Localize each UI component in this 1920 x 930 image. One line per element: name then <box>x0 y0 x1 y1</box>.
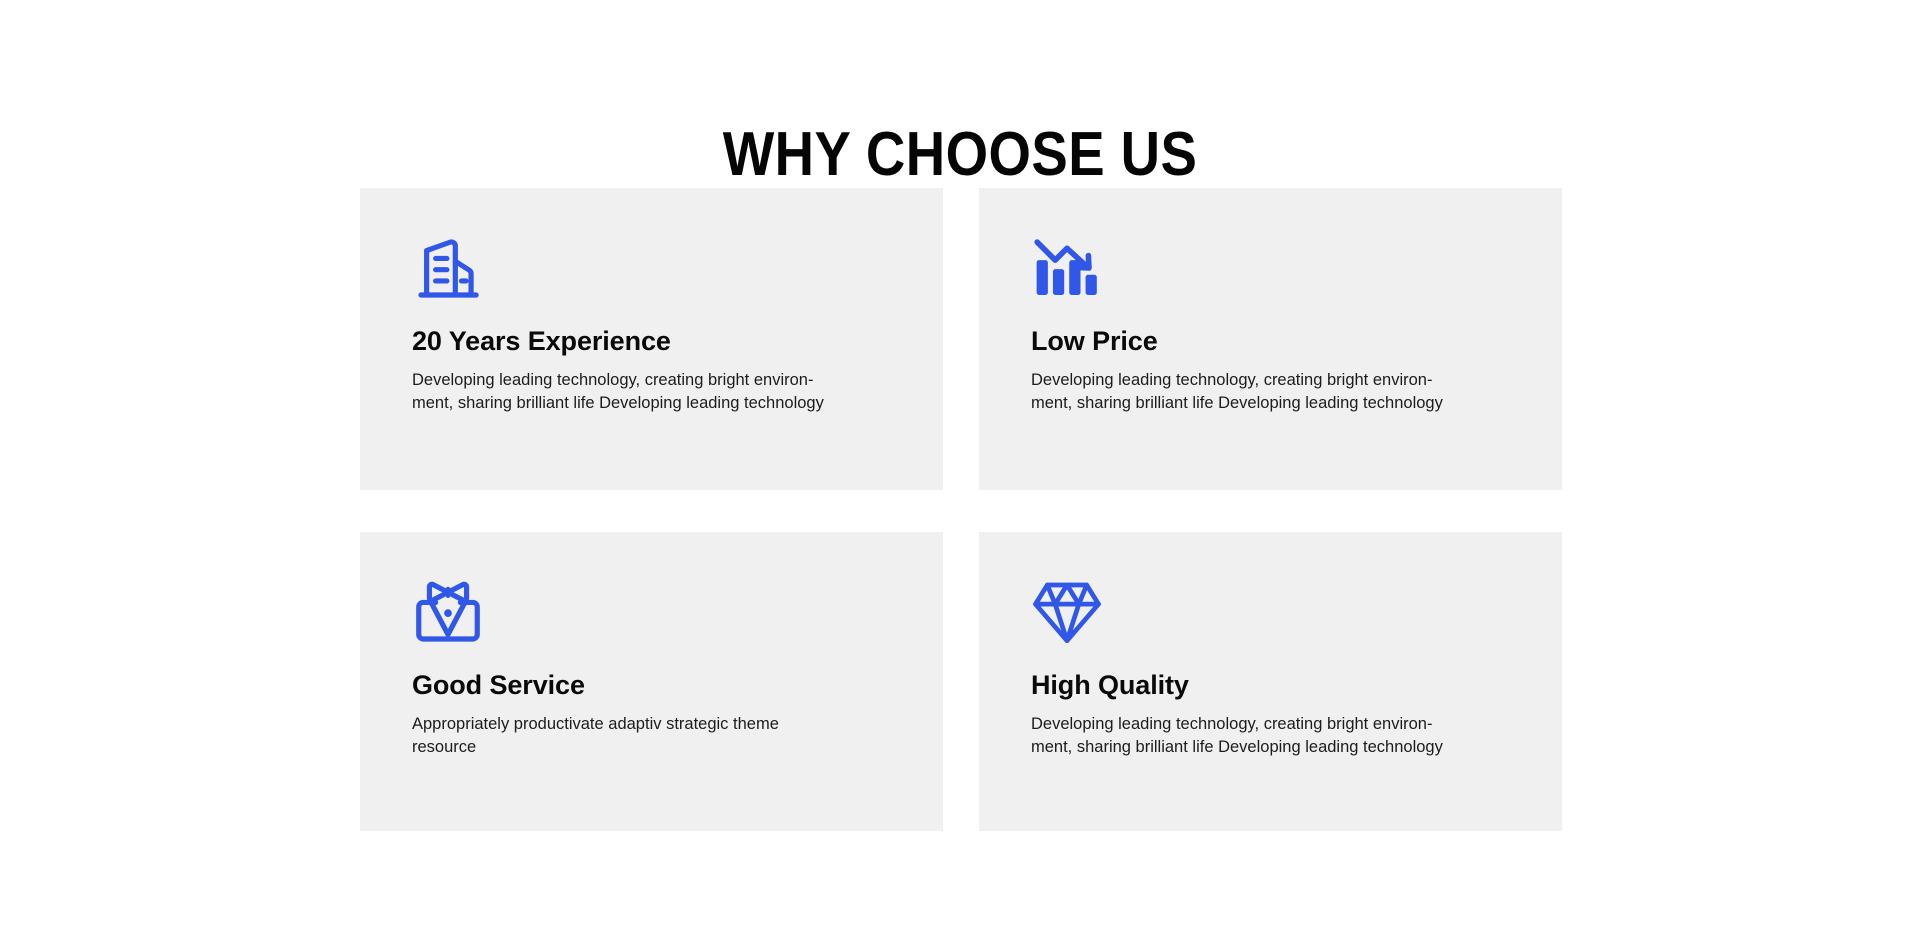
feature-card-experience[interactable]: 20 Years Experience Developing leading t… <box>360 188 943 490</box>
feature-cards-grid: 20 Years Experience Developing leading t… <box>360 188 1562 831</box>
bar-chart-down-arrow-icon <box>1031 232 1512 304</box>
card-title: Good Service <box>412 670 893 701</box>
feature-card-low-price[interactable]: Low Price Developing leading technology,… <box>979 188 1562 490</box>
card-description: Appropriately productivate adaptiv strat… <box>412 713 832 758</box>
card-title: High Quality <box>1031 670 1512 701</box>
card-description: Developing leading technology, creating … <box>1031 713 1451 758</box>
feature-card-good-service[interactable]: Good Service Appropriately productivate … <box>360 532 943 831</box>
feature-card-high-quality[interactable]: High Quality Developing leading technolo… <box>979 532 1562 831</box>
card-title: 20 Years Experience <box>412 326 893 357</box>
page-title: WHY CHOOSE US <box>115 124 1805 186</box>
card-description: Developing leading technology, creating … <box>412 369 832 414</box>
tuxedo-bowtie-icon <box>412 576 893 648</box>
building-icon <box>412 232 893 304</box>
diamond-icon <box>1031 576 1512 648</box>
why-choose-us-section: WHY CHOOSE US 20 Years Experience Develo… <box>0 0 1920 930</box>
card-title: Low Price <box>1031 326 1512 357</box>
card-description: Developing leading technology, creating … <box>1031 369 1451 414</box>
